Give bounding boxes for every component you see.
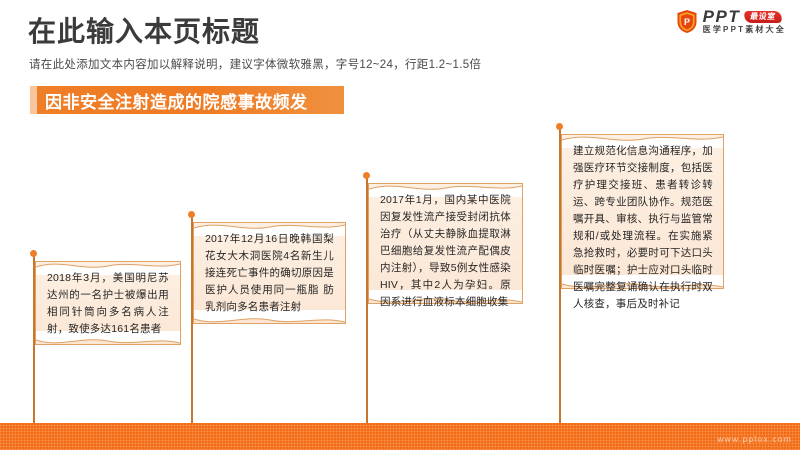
flag-2-pole-knob [188,211,195,218]
brand-logo-row: PPT 最设室 [703,8,786,25]
brand-logo: P PPT 最设室 医学PPT素材大全 [676,8,786,34]
footer-watermark: www.pplox.com [717,434,792,444]
brand-badge: 最设室 [743,11,782,23]
flag-2-text: 2017年12月16日晚韩国梨花女大木洞医院4名新生儿接连死亡事件的确切原因是医… [205,231,334,316]
flag-1-text: 2018年3月，美国明尼苏达州的一名护士被爆出用 相同针筒向多名病人注射，致使多… [47,270,169,338]
flag-4-text: 建立规范化信息沟通程序，加强医疗环节交接制度，包括医疗护理交接班、患者转诊转运、… [573,143,713,313]
flag-3-pole-knob [363,172,370,179]
page-title: 在此输入本页标题 [28,17,260,48]
page-subtitle: 请在此处添加文本内容加以解释说明，建议字体微软雅黑，字号12~24，行距1.2~… [29,56,481,72]
brand-name: PPT [703,8,741,25]
section-banner: 因非安全注射造成的院感事故频发 [30,86,344,114]
brand-tagline: 医学PPT素材大全 [703,26,786,34]
footer-band [0,423,800,450]
section-banner-label: 因非安全注射造成的院感事故频发 [30,88,308,113]
svg-text:P: P [684,17,690,27]
slide-canvas: 在此输入本页标题 请在此处添加文本内容加以解释说明，建议字体微软雅黑，字号12~… [0,0,800,450]
flag-4-pole-knob [556,123,563,130]
section-banner-notch [30,86,37,114]
shield-icon: P [676,9,698,34]
flag-3-text: 2017年1月，国内某中医院因复发性流产接受封闭抗体治疗（从丈夫静脉血提取淋巴细… [380,192,511,311]
brand-logo-text: PPT 最设室 医学PPT素材大全 [703,8,786,34]
flag-1-pole-knob [30,250,37,257]
